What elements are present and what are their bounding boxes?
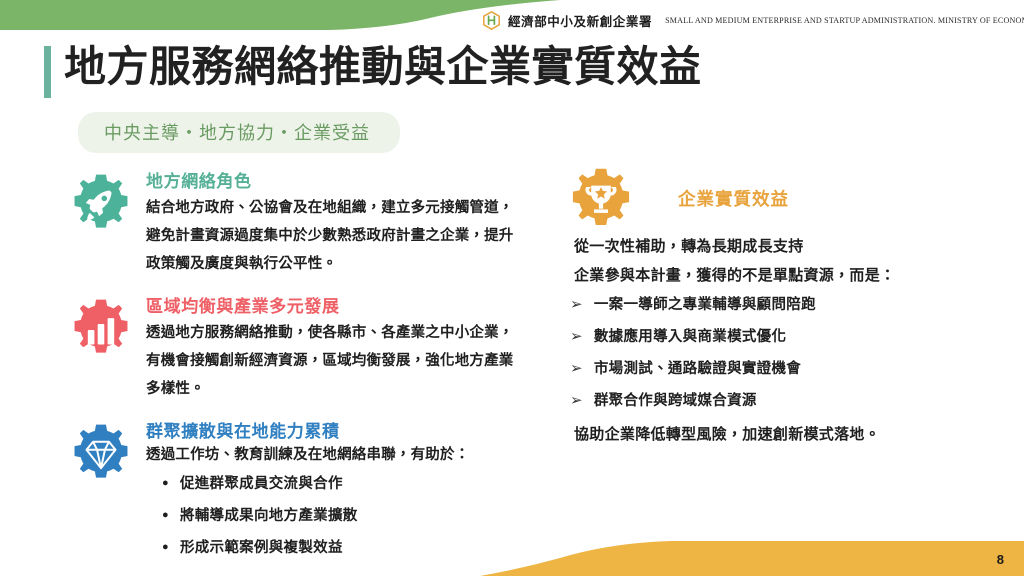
left-column: 地方網絡角色 結合地方政府、公協會及在地組織，建立多元接觸管道，避免計畫資源過度… xyxy=(68,166,528,570)
right-column: 企業實質效益 從一次性補助，轉為長期成長支持 企業參與本計畫，獲得的不是單點資源… xyxy=(566,166,1016,444)
list-item: ➢ 群聚合作與跨域媒合資源 xyxy=(566,391,1016,412)
list-item-label: 群聚合作與跨域媒合資源 xyxy=(594,391,757,412)
trophy-gear-icon xyxy=(566,166,632,232)
bullet-dot-icon: ● xyxy=(162,538,169,558)
bar-chart-gear-icon xyxy=(68,297,134,363)
list-item-label: 市場測試、通路驗證與實證機會 xyxy=(594,359,801,380)
block-heading: 群聚擴散與在地能力累積 xyxy=(146,422,528,442)
block-paragraph: 透過工作坊、教育訓練及在地網絡串聯，有助於： xyxy=(146,442,528,470)
content-block-cluster-diffusion: 群聚擴散與在地能力累積 透過工作坊、教育訓練及在地網絡串聯，有助於： ● 促進群… xyxy=(68,422,528,559)
bullet-dot-icon: ● xyxy=(162,474,169,494)
right-paragraph-1: 從一次性補助，轉為長期成長支持 xyxy=(574,232,1016,261)
list-item: ➢ 市場測試、通路驗證與實證機會 xyxy=(566,359,1016,380)
list-item-label: 促進群聚成員交流與合作 xyxy=(180,474,343,495)
page-number: 8 xyxy=(997,552,1004,567)
title-accent-bar xyxy=(44,46,51,98)
page-title-group: 地方服務網絡推動與企業實質效益 xyxy=(44,44,702,98)
enterprise-benefit-list: ➢ 一案一導師之專業輔導與顧問陪跑 ➢ 數據應用導入與商業模式優化 ➢ 市場測試… xyxy=(566,295,1016,412)
list-item: ● 形成示範案例與複製效益 xyxy=(146,538,528,559)
list-item-label: 一案一導師之專業輔導與顧問陪跑 xyxy=(594,295,816,316)
right-closing-text: 協助企業降低轉型風險，加速創新模式落地。 xyxy=(574,423,1016,444)
block-heading: 區域均衡與產業多元發展 xyxy=(146,297,528,317)
green-swoosh-decoration xyxy=(0,0,560,40)
block-body: 區域均衡與產業多元發展 透過地方服務網絡推動，使各縣市、各產業之中小企業，有機會… xyxy=(146,297,528,404)
block-heading: 企業實質效益 xyxy=(678,186,789,211)
content-block-local-network-role: 地方網絡角色 結合地方政府、公協會及在地組織，建立多元接觸管道，避免計畫資源過度… xyxy=(68,172,528,279)
block-body: 群聚擴散與在地能力累積 透過工作坊、教育訓練及在地網絡串聯，有助於： ● 促進群… xyxy=(146,422,528,559)
block-heading: 地方網絡角色 xyxy=(146,172,528,192)
list-item: ➢ 數據應用導入與商業模式優化 xyxy=(566,327,1016,348)
list-item-label: 將輔導成果向地方產業擴散 xyxy=(180,506,358,527)
block-paragraph: 結合地方政府、公協會及在地組織，建立多元接觸管道，避免計畫資源過度集中於少數熟悉… xyxy=(146,195,528,278)
arrow-bullet-icon: ➢ xyxy=(570,391,583,411)
diamond-gear-icon xyxy=(68,422,134,488)
block-paragraph: 透過地方服務網絡推動，使各縣市、各產業之中小企業，有機會接觸創新經濟資源，區域均… xyxy=(146,320,528,403)
content-block-enterprise-benefits: 企業實質效益 xyxy=(566,166,1016,232)
page-subtitle: 中央主導・地方協力・企業受益 xyxy=(78,112,400,153)
logo-english-name: SMALL AND MEDIUM ENTERPRISE AND STARTUP … xyxy=(665,16,1024,25)
right-paragraph-2: 企業參與本計畫，獲得的不是單點資源，而是： xyxy=(574,261,1016,290)
list-item: ● 將輔導成果向地方產業擴散 xyxy=(146,506,528,527)
slide-root: 經濟部中小及新創企業署 SMALL AND MEDIUM ENTERPRISE … xyxy=(0,0,1024,576)
page-title: 地方服務網絡推動與企業實質效益 xyxy=(64,44,702,90)
arrow-bullet-icon: ➢ xyxy=(570,359,583,379)
rocket-gear-icon xyxy=(68,172,134,238)
arrow-bullet-icon: ➢ xyxy=(570,327,583,347)
cluster-bullet-list: ● 促進群聚成員交流與合作 ● 將輔導成果向地方產業擴散 ● 形成示範案例與複製… xyxy=(146,474,528,559)
organization-logo: 經濟部中小及新創企業署 SMALL AND MEDIUM ENTERPRISE … xyxy=(482,9,1024,31)
list-item-label: 數據應用導入與商業模式優化 xyxy=(594,327,786,348)
block-body: 地方網絡角色 結合地方政府、公協會及在地組織，建立多元接觸管道，避免計畫資源過度… xyxy=(146,172,528,279)
logo-chinese-name: 經濟部中小及新創企業署 xyxy=(508,11,652,30)
bullet-dot-icon: ● xyxy=(162,506,169,526)
list-item: ➢ 一案一導師之專業輔導與顧問陪跑 xyxy=(566,295,1016,316)
content-block-regional-balance: 區域均衡與產業多元發展 透過地方服務網絡推動，使各縣市、各產業之中小企業，有機會… xyxy=(68,297,528,404)
list-item: ● 促進群聚成員交流與合作 xyxy=(146,474,528,495)
arrow-bullet-icon: ➢ xyxy=(570,295,583,315)
list-item-label: 形成示範案例與複製效益 xyxy=(180,538,343,559)
smea-emblem-icon xyxy=(482,11,501,30)
